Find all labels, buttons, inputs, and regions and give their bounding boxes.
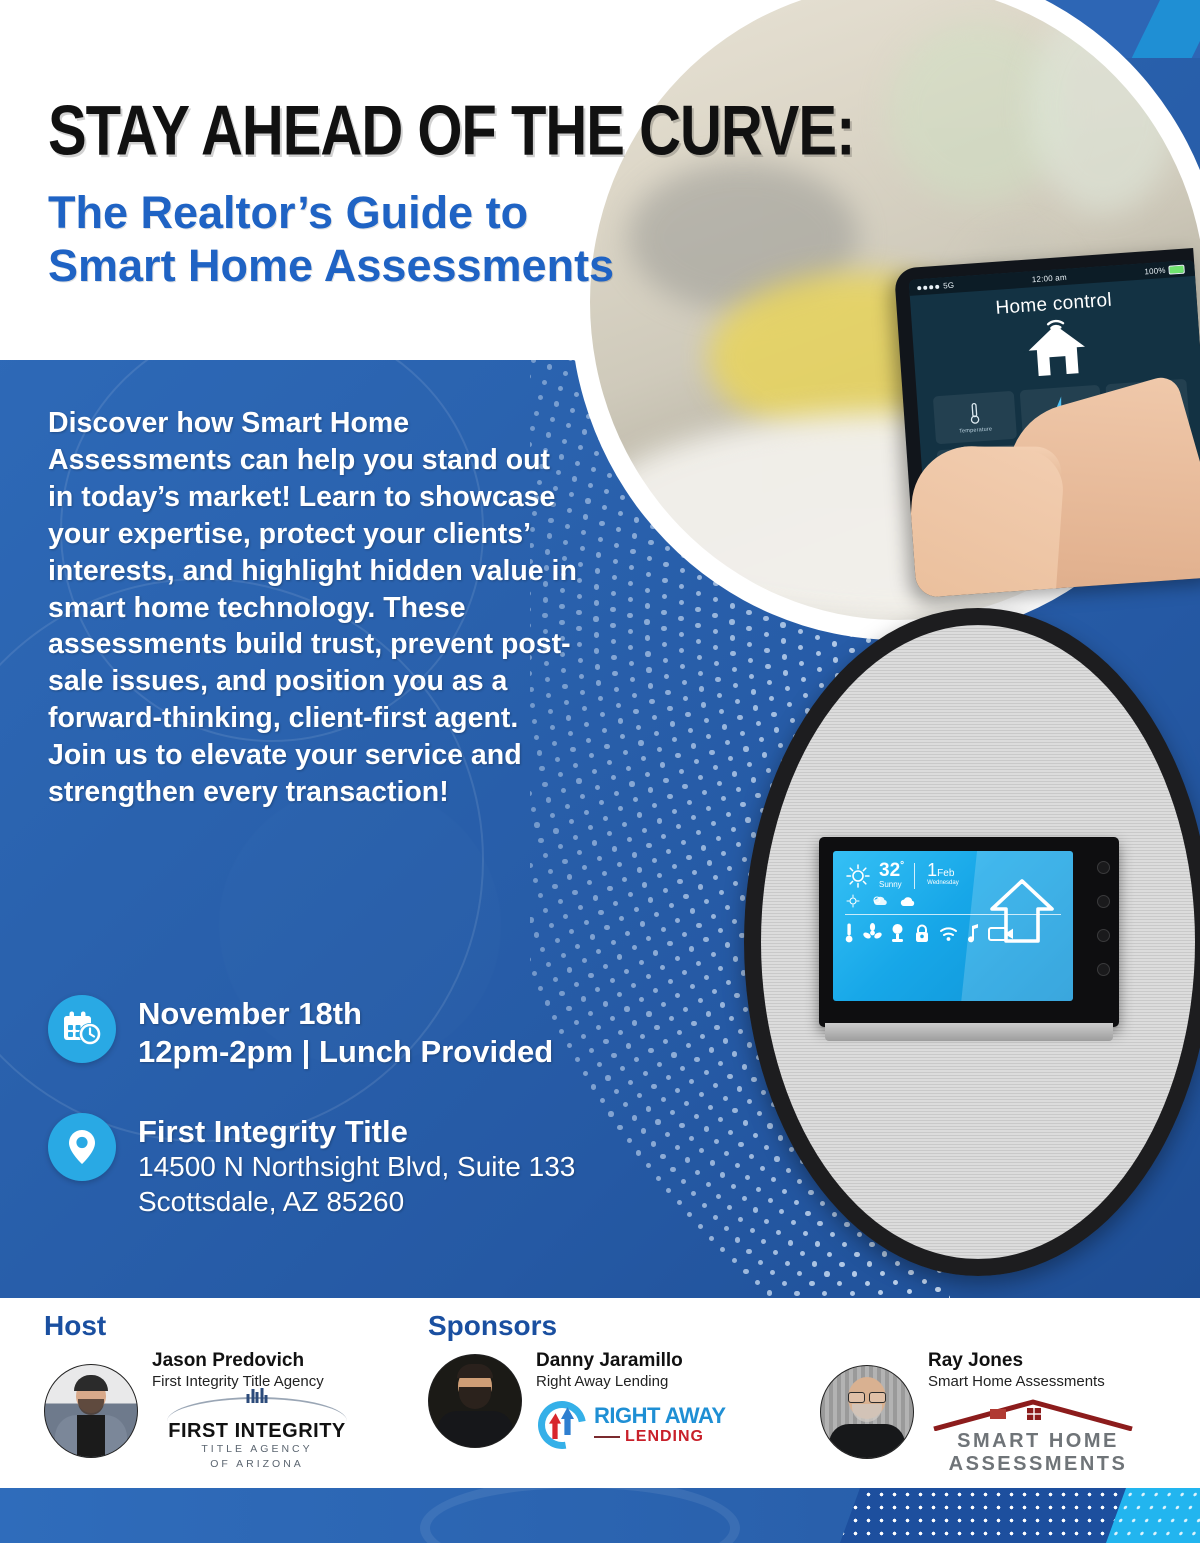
thermometer-icon — [843, 922, 856, 944]
event-flyer: 5G 12:00 am 100% Home control — [0, 0, 1200, 1543]
roof-icon — [928, 1397, 1148, 1431]
avatar — [820, 1365, 914, 1459]
tablet-battery-label: 100% — [1144, 266, 1166, 276]
cloudy-icon — [899, 894, 917, 908]
logo-line1: RIGHT AWAY — [594, 1405, 726, 1427]
venue-address-line1: 14500 N Northsight Blvd, Suite 133 — [138, 1150, 575, 1184]
wall-panel-base — [825, 1023, 1113, 1041]
smart-home-assessments-logo: SMART HOME ASSESSMENTS — [928, 1397, 1148, 1474]
bottom-watermark — [420, 1488, 740, 1543]
event-date: November 18th — [138, 995, 553, 1033]
sponsor-2-section: Ray Jones Smart Home Assessments — [820, 1310, 1148, 1474]
calendar-clock-icon — [48, 995, 116, 1063]
partly-cloudy-icon — [871, 894, 889, 908]
sponsors-heading: Sponsors — [428, 1310, 726, 1342]
supporting-hand — [903, 442, 1066, 598]
sponsor-person: Danny Jaramillo Right Away Lending RIGHT… — [428, 1350, 726, 1451]
headline-primary: STAY AHEAD OF THE CURVE: — [48, 96, 868, 167]
wall-panel-buttons[interactable] — [1097, 861, 1110, 976]
logo-line2: LENDING — [594, 1429, 726, 1445]
venue-address-line2: Scottsdale, AZ 85260 — [138, 1185, 575, 1219]
tablet-device: 5G 12:00 am 100% Home control — [894, 248, 1200, 598]
location-text: First Integrity Title 14500 N Northsight… — [138, 1113, 575, 1219]
magnified-wall-panel-circle: 32° Sunny 1Feb Wednesday — [744, 608, 1200, 1276]
smart-wall-panel: 32° Sunny 1Feb Wednesday — [819, 837, 1119, 1027]
map-pin-icon — [48, 1113, 116, 1181]
right-away-lending-logo: RIGHT AWAY LENDING — [536, 1399, 726, 1451]
host-heading: Host — [44, 1310, 362, 1342]
weather-condition: Sunny — [879, 881, 904, 889]
sponsor-org: Smart Home Assessments — [928, 1373, 1148, 1391]
headline-secondary-line2: Smart Home Assessments — [48, 239, 868, 292]
bottom-decorative-strip — [0, 1488, 1200, 1543]
avatar — [428, 1354, 522, 1448]
tablet-tile-temperature[interactable]: Temperature — [933, 391, 1017, 445]
weekday-label: Wednesday — [927, 880, 959, 886]
skyline-icon — [247, 1388, 268, 1403]
footer: Host Jason Predovich First Integrity Tit… — [0, 1298, 1200, 1488]
avatar — [44, 1364, 138, 1458]
event-details: November 18th 12pm-2pm | Lunch Provided … — [48, 995, 748, 1261]
tablet-battery-indicator: 100% — [1144, 265, 1185, 277]
sun-icon — [845, 863, 871, 889]
tablet-clock-label: 12:00 am — [1032, 273, 1068, 284]
logo-name: FIRST INTEGRITY — [152, 1421, 362, 1442]
padlock-icon — [913, 923, 931, 944]
arrows-swirl-icon — [536, 1399, 588, 1451]
degree-symbol: ° — [900, 860, 904, 871]
event-time: 12pm-2pm | Lunch Provided — [138, 1033, 553, 1071]
description-paragraph: Discover how Smart Home Assessments can … — [48, 405, 578, 811]
host-person: Jason Predovich First Integrity Title Ag… — [44, 1350, 362, 1473]
logo-sub1: TITLE AGENCY — [152, 1442, 362, 1457]
signal-dots-icon — [917, 284, 939, 290]
wall-panel-screen: 32° Sunny 1Feb Wednesday — [833, 851, 1073, 1001]
lamp-icon — [889, 923, 906, 944]
panel-divider — [914, 863, 915, 889]
sponsor-org: Right Away Lending — [536, 1373, 726, 1391]
sponsor-name: Ray Jones — [928, 1350, 1148, 1371]
host-section: Host Jason Predovich First Integrity Tit… — [44, 1310, 362, 1473]
venue-name: First Integrity Title — [138, 1113, 575, 1151]
tablet-tile-label: Temperature — [959, 426, 992, 434]
day-number: 1 — [927, 860, 937, 880]
headline-secondary-line1: The Realtor’s Guide to — [48, 186, 868, 239]
thermometer-icon — [967, 401, 982, 426]
panel-button[interactable] — [1097, 929, 1110, 942]
sponsors-section: Sponsors Danny Jaramillo Right Away Lend… — [428, 1310, 726, 1451]
screen-glare — [957, 851, 1073, 1001]
logo-sub2: OF ARIZONA — [152, 1457, 362, 1472]
tablet-network-label: 5G — [943, 281, 955, 291]
battery-icon — [1168, 265, 1185, 275]
date-time-row: November 18th 12pm-2pm | Lunch Provided — [48, 995, 748, 1071]
sponsor-person: Ray Jones Smart Home Assessments — [820, 1350, 1148, 1474]
wall-panel-temperature: 32° Sunny — [879, 861, 904, 889]
logo-arc — [167, 1397, 347, 1421]
panel-button[interactable] — [1097, 895, 1110, 908]
fan-icon — [863, 923, 882, 943]
sponsor-name: Danny Jaramillo — [536, 1350, 726, 1371]
first-integrity-logo: FIRST INTEGRITY TITLE AGENCY OF ARIZONA — [152, 1397, 362, 1472]
logo-line1: SMART HOME — [928, 1431, 1148, 1451]
temperature-value: 32 — [879, 860, 900, 881]
headline-block: STAY AHEAD OF THE CURVE: The Realtor’s G… — [48, 96, 868, 292]
panel-button[interactable] — [1097, 861, 1110, 874]
month-label: Feb — [937, 868, 954, 879]
wifi-icon — [938, 924, 959, 942]
host-name: Jason Predovich — [152, 1350, 362, 1371]
panel-button[interactable] — [1097, 963, 1110, 976]
logo-line2: ASSESSMENTS — [928, 1454, 1148, 1474]
location-row: First Integrity Title 14500 N Northsight… — [48, 1113, 748, 1219]
headline-secondary: The Realtor’s Guide to Smart Home Assess… — [48, 186, 868, 292]
sun-small-icon — [845, 894, 861, 908]
date-time-text: November 18th 12pm-2pm | Lunch Provided — [138, 995, 553, 1071]
wall-panel-date: 1Feb Wednesday — [927, 861, 959, 886]
